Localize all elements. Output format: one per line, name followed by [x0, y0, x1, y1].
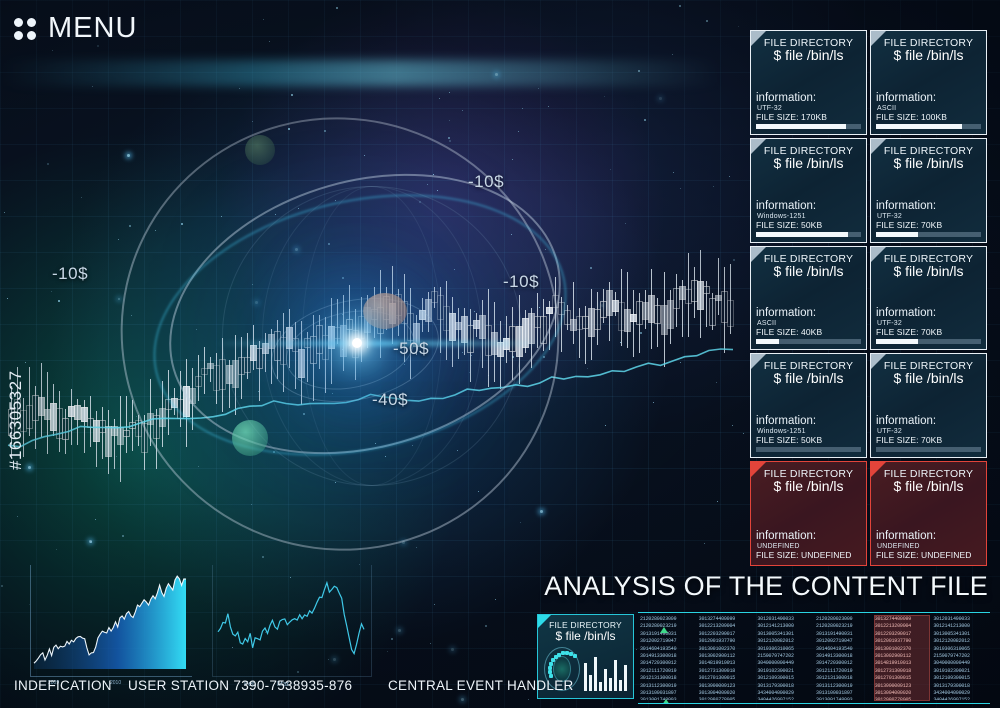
data-matrix-row: 3019102300021	[757, 668, 812, 675]
data-matrix-row: 3434004000029	[757, 690, 812, 697]
card-encoding: ASCII	[756, 320, 861, 327]
data-matrix-row: 3014604193540	[640, 646, 695, 653]
data-matrix-column: 3012031490033301214121300030130053413013…	[757, 616, 812, 700]
card-command: $ file /bin/ls	[756, 156, 861, 171]
status-user-station: USER STATION 7390-7538935-876	[128, 678, 352, 693]
data-matrix-row: 3012980778005	[699, 697, 754, 700]
data-matrix-row: 3013900009123	[875, 683, 930, 690]
card-file-size: FILE SIZE: 40KB	[756, 327, 861, 337]
growth-index-area-chart: 20092010	[30, 565, 192, 677]
data-matrix-row: 3013004000020	[875, 690, 930, 697]
card-command: $ file /bin/ls	[756, 48, 861, 63]
price-label-1: -10$	[468, 172, 504, 192]
data-matrix-row: 3012980778005	[875, 697, 930, 700]
card-progress-bar	[756, 447, 861, 452]
card-file-size: FILE SIZE: UNDEFINED	[876, 550, 981, 560]
data-matrix-row: 2120280023219	[816, 623, 871, 630]
card-progress-bar	[876, 232, 981, 237]
data-matrix-row: 3013191490031	[816, 631, 871, 638]
card-command: $ file /bin/ls	[876, 48, 981, 63]
data-matrix-row: 3019306310065	[933, 646, 988, 653]
card-file-size: FILE SIZE: 70KB	[876, 327, 981, 337]
data-matrix-row: 3012141213000	[933, 623, 988, 630]
data-matrix-row: 3012213209004	[699, 623, 754, 630]
status-event-handler: CENTRAL EVENT HANDLER	[388, 678, 574, 693]
file-directory-card[interactable]: FILE DIRECTORY$ file /bin/lsinformation:…	[870, 353, 987, 458]
data-matrix-row: 3013274400099	[699, 616, 754, 623]
price-label-0: -10$	[52, 264, 88, 284]
card-encoding: UTF-32	[876, 320, 981, 327]
data-matrix-row: 2159079747202	[933, 653, 988, 660]
data-matrix-row: 3012109300015	[757, 675, 812, 682]
dial-segment	[549, 662, 553, 666]
card-encoding: UTF-32	[756, 105, 861, 112]
card-corner-notch	[871, 247, 886, 262]
data-matrix-row: 3012120082012	[933, 638, 988, 645]
file-directory-card[interactable]: FILE DIRECTORY$ file /bin/lsinformation:…	[750, 138, 867, 243]
data-matrix-row: 3012031490033	[933, 616, 988, 623]
file-directory-card-grid: FILE DIRECTORY$ file /bin/lsinformation:…	[750, 30, 987, 566]
card-encoding: ASCII	[876, 105, 981, 112]
card-file-size: FILE SIZE: 70KB	[876, 220, 981, 230]
grid-dots-icon	[14, 18, 36, 40]
file-directory-card[interactable]: FILE DIRECTORY$ file /bin/lsinformation:…	[750, 353, 867, 458]
card-corner-notch	[751, 31, 766, 46]
card-encoding: UNDEFINED	[756, 543, 861, 550]
card-progress-bar	[876, 447, 981, 452]
status-bar: INDEFICATION USER STATION 7390-7538935-8…	[0, 674, 745, 696]
card-file-size: FILE SIZE: 50KB	[756, 220, 861, 230]
file-directory-card[interactable]: FILE DIRECTORY$ file /bin/lsinformation:…	[750, 30, 867, 135]
card-info-label: information:	[876, 415, 981, 427]
card-encoding: Windows-1251	[756, 428, 861, 435]
data-matrix-row: 3012701300015	[875, 675, 930, 682]
card-info-label: information:	[756, 92, 861, 104]
card-info-label: information:	[756, 200, 861, 212]
data-matrix-column: 2120280023009212028002321930131914900313…	[816, 616, 871, 700]
data-matrix-row: 3013274400099	[875, 616, 930, 623]
data-matrix-row: 2120280023009	[640, 616, 695, 623]
data-matrix-row: 3014819910013	[875, 660, 930, 667]
data-matrix-row: 3012001937790	[699, 638, 754, 645]
card-command: $ file /bin/ls	[876, 264, 981, 279]
card-file-size: FILE SIZE: UNDEFINED	[756, 550, 861, 560]
card-command: $ file /bin/ls	[756, 264, 861, 279]
data-matrix-row: 3012213209004	[875, 623, 930, 630]
gauge-card-command: $ file /bin/ls	[542, 630, 629, 643]
data-matrix-row: 3013002900112	[699, 653, 754, 660]
vertical-identifier: #166305327	[6, 370, 26, 470]
price-label-4: -40$	[372, 390, 408, 410]
card-corner-notch	[871, 139, 886, 154]
card-corner-notch	[538, 615, 551, 628]
page-title: ANALYSIS OF THE CONTENT FILE	[544, 571, 988, 602]
data-matrix-row: 3013179300018	[933, 683, 988, 690]
card-encoding: Windows-1251	[756, 213, 861, 220]
data-matrix-marker	[660, 627, 668, 633]
card-progress-bar	[876, 339, 981, 344]
status-identification: INDEFICATION	[14, 678, 112, 693]
dial-segment	[548, 666, 552, 670]
card-progress-bar	[756, 232, 861, 237]
data-matrix-row: 3040000000449	[757, 660, 812, 667]
data-matrix-marker	[662, 699, 670, 704]
card-progress-bar	[756, 339, 861, 344]
volatility-index-line-chart: FebMar	[212, 565, 372, 677]
data-matrix-column: 3013274400099301221320900430122032900173…	[875, 616, 930, 700]
data-matrix-row: 3012001937790	[875, 638, 930, 645]
data-matrix-row: 3040000000449	[933, 660, 988, 667]
card-info-label: information:	[756, 530, 861, 542]
menu-label: MENU	[48, 12, 137, 45]
file-directory-card[interactable]: FILE DIRECTORY$ file /bin/lsinformation:…	[750, 461, 867, 566]
data-matrix-row: 3013002900112	[875, 653, 930, 660]
data-matrix-row: 3012002719047	[816, 638, 871, 645]
data-matrix-row: 3013001002370	[875, 646, 930, 653]
data-matrix-row: 3012203290017	[699, 631, 754, 638]
file-directory-card[interactable]: FILE DIRECTORY$ file /bin/lsinformation:…	[870, 30, 987, 135]
data-matrix-row: 3012731300018	[875, 668, 930, 675]
card-corner-notch	[871, 462, 886, 477]
data-matrix-row: 3012131300018	[816, 675, 871, 682]
data-matrix-row: 3014913300018	[816, 653, 871, 660]
card-command: $ file /bin/ls	[876, 371, 981, 386]
file-directory-card[interactable]: FILE DIRECTORY$ file /bin/lsinformation:…	[870, 246, 987, 351]
card-file-size: FILE SIZE: 170KB	[756, 112, 861, 122]
card-corner-notch	[871, 31, 886, 46]
card-file-size: FILE SIZE: 100KB	[876, 112, 981, 122]
data-matrix-row: 2120280023009	[816, 616, 871, 623]
data-matrix-row: 3013005341301	[933, 631, 988, 638]
dial-segment	[573, 654, 577, 658]
line-chart-plot	[212, 565, 372, 677]
data-matrix-row: 3013100031897	[816, 690, 871, 697]
data-matrix-row: 3434004000029	[933, 690, 988, 697]
data-matrix-row: 3019306310065	[757, 646, 812, 653]
card-encoding: UNDEFINED	[876, 543, 981, 550]
card-command: $ file /bin/ls	[876, 479, 981, 494]
price-label-3: -50$	[393, 339, 429, 359]
card-progress-bar	[756, 124, 861, 129]
data-matrix-row: 3012109300015	[933, 675, 988, 682]
card-command: $ file /bin/ls	[756, 479, 861, 494]
data-matrix-row: 3014720300012	[640, 660, 695, 667]
card-encoding: UTF-32	[876, 213, 981, 220]
data-matrix-row: 2159079747202	[757, 653, 812, 660]
card-encoding: UTF-32	[876, 428, 981, 435]
file-directory-card[interactable]: FILE DIRECTORY$ file /bin/lsinformation:…	[870, 138, 987, 243]
data-matrix-row: 3013005341301	[757, 631, 812, 638]
card-file-size: FILE SIZE: 70KB	[876, 435, 981, 445]
card-info-label: information:	[876, 200, 981, 212]
card-info-label: information:	[756, 307, 861, 319]
data-matrix-row: 3012031490033	[757, 616, 812, 623]
card-file-size: FILE SIZE: 50KB	[756, 435, 861, 445]
data-matrix-row: 3012002719047	[640, 638, 695, 645]
data-matrix-row: 3012120082012	[757, 638, 812, 645]
data-matrix-row: 3012111720019	[816, 668, 871, 675]
card-info-label: information:	[876, 307, 981, 319]
data-matrix-row: 3404426907152	[757, 697, 812, 700]
data-matrix-row: 3014819910013	[699, 660, 754, 667]
card-info-label: information:	[876, 530, 981, 542]
data-matrix-row: 3012141213000	[757, 623, 812, 630]
data-matrix-row: 3013179300018	[757, 683, 812, 690]
file-directory-card[interactable]: FILE DIRECTORY$ file /bin/lsinformation:…	[750, 246, 867, 351]
card-command: $ file /bin/ls	[756, 371, 861, 386]
menu-button[interactable]: MENU	[14, 12, 137, 45]
price-label-2: -10$	[503, 272, 539, 292]
card-corner-notch	[751, 139, 766, 154]
card-corner-notch	[871, 354, 886, 369]
data-matrix-row: 3012203290017	[875, 631, 930, 638]
data-matrix-row: 3013001748093	[816, 697, 871, 700]
card-command: $ file /bin/ls	[876, 156, 981, 171]
card-corner-notch	[751, 354, 766, 369]
data-matrix-row: 3014913300018	[640, 653, 695, 660]
data-matrix-row: 3014720300012	[816, 660, 871, 667]
file-directory-card[interactable]: FILE DIRECTORY$ file /bin/lsinformation:…	[870, 461, 987, 566]
data-matrix-column: 3012031490033301214121300030130053413013…	[933, 616, 988, 700]
area-chart-plot	[30, 565, 192, 677]
data-matrix-row: 3013001002370	[699, 646, 754, 653]
data-matrix-row: 3404426907152	[933, 697, 988, 700]
data-matrix-row: 3013112300019	[816, 683, 871, 690]
card-info-label: information:	[756, 415, 861, 427]
card-corner-notch	[751, 247, 766, 262]
card-corner-notch	[751, 462, 766, 477]
data-matrix-row: 3014604193540	[816, 646, 871, 653]
card-progress-bar	[876, 124, 981, 129]
card-info-label: information:	[876, 92, 981, 104]
data-matrix-row: 3019102300021	[933, 668, 988, 675]
